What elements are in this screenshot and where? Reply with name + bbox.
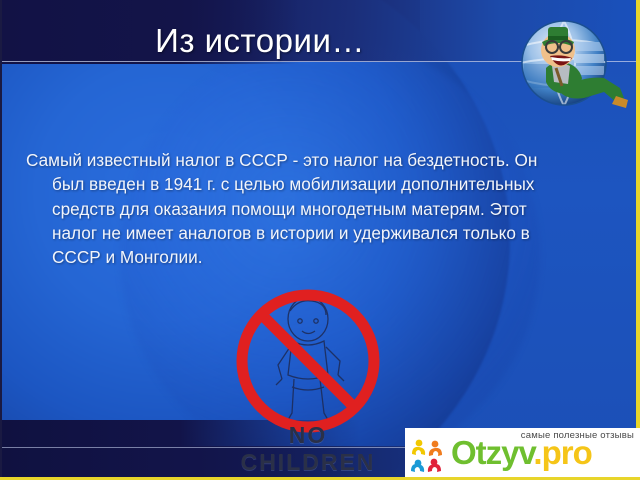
watermark-brand-suffix: .pro	[533, 434, 591, 471]
people-group-icon	[408, 437, 448, 473]
globe-laughing-man-icon	[512, 16, 630, 116]
slide-body-text: Самый известный налог в СССР - это налог…	[26, 148, 546, 269]
no-children-label: NO CHILDREN	[222, 422, 394, 476]
watermark-otzyv-pro[interactable]: самые полезные отзывы	[405, 428, 640, 477]
presentation-slide: Из истории…	[0, 0, 640, 480]
slide-border-right	[636, 0, 640, 480]
page-title: Из истории…	[0, 22, 520, 60]
slide-border-left	[0, 0, 2, 480]
watermark-brand-primary: Otzyv	[451, 434, 533, 471]
watermark-brand: Otzyv.pro	[451, 436, 592, 470]
body-paragraph: Самый известный налог в СССР - это налог…	[26, 148, 546, 269]
